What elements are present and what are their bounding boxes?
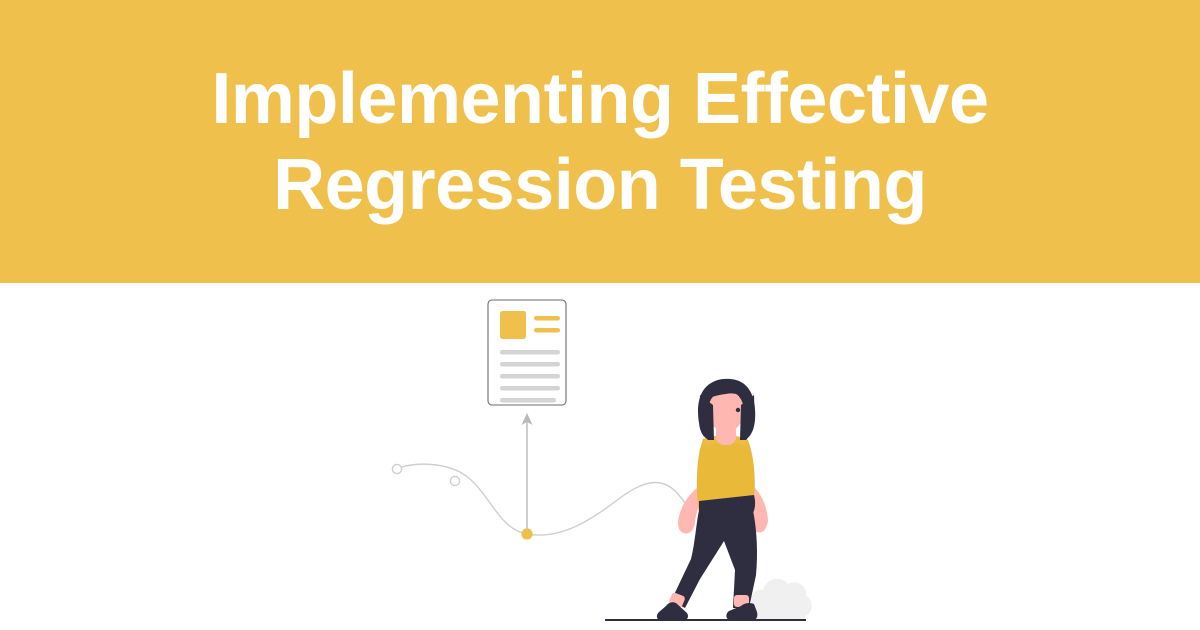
upward-arrow-icon — [522, 413, 533, 535]
page-title: Implementing Effective Regression Testin… — [100, 56, 1100, 228]
document-body-line — [500, 386, 560, 391]
bush-icon — [751, 579, 812, 620]
document-body-line — [500, 350, 560, 355]
curve-marker-active — [521, 528, 532, 539]
document-body-line — [500, 362, 560, 367]
person-left-hand — [679, 519, 694, 534]
curve-marker-open — [450, 476, 459, 485]
person-eye — [736, 408, 740, 412]
illustration-stage — [0, 283, 1200, 630]
document-body-line — [500, 374, 560, 379]
document-heading-line — [534, 316, 560, 321]
bush-shape — [751, 579, 812, 620]
curve-path — [398, 464, 692, 535]
header-banner: Implementing Effective Regression Testin… — [0, 0, 1200, 283]
curve-marker-open — [392, 464, 401, 473]
poster-canvas: Implementing Effective Regression Testin… — [0, 0, 1200, 630]
document-thumbnail-icon — [500, 311, 526, 339]
document-body-line — [500, 398, 556, 403]
person-right-shoe — [726, 603, 757, 620]
document-heading-line — [534, 328, 560, 333]
walking-woman — [657, 379, 768, 620]
illustration-svg — [0, 283, 1200, 630]
progress-curve — [392, 464, 692, 539]
document-card — [488, 300, 566, 405]
